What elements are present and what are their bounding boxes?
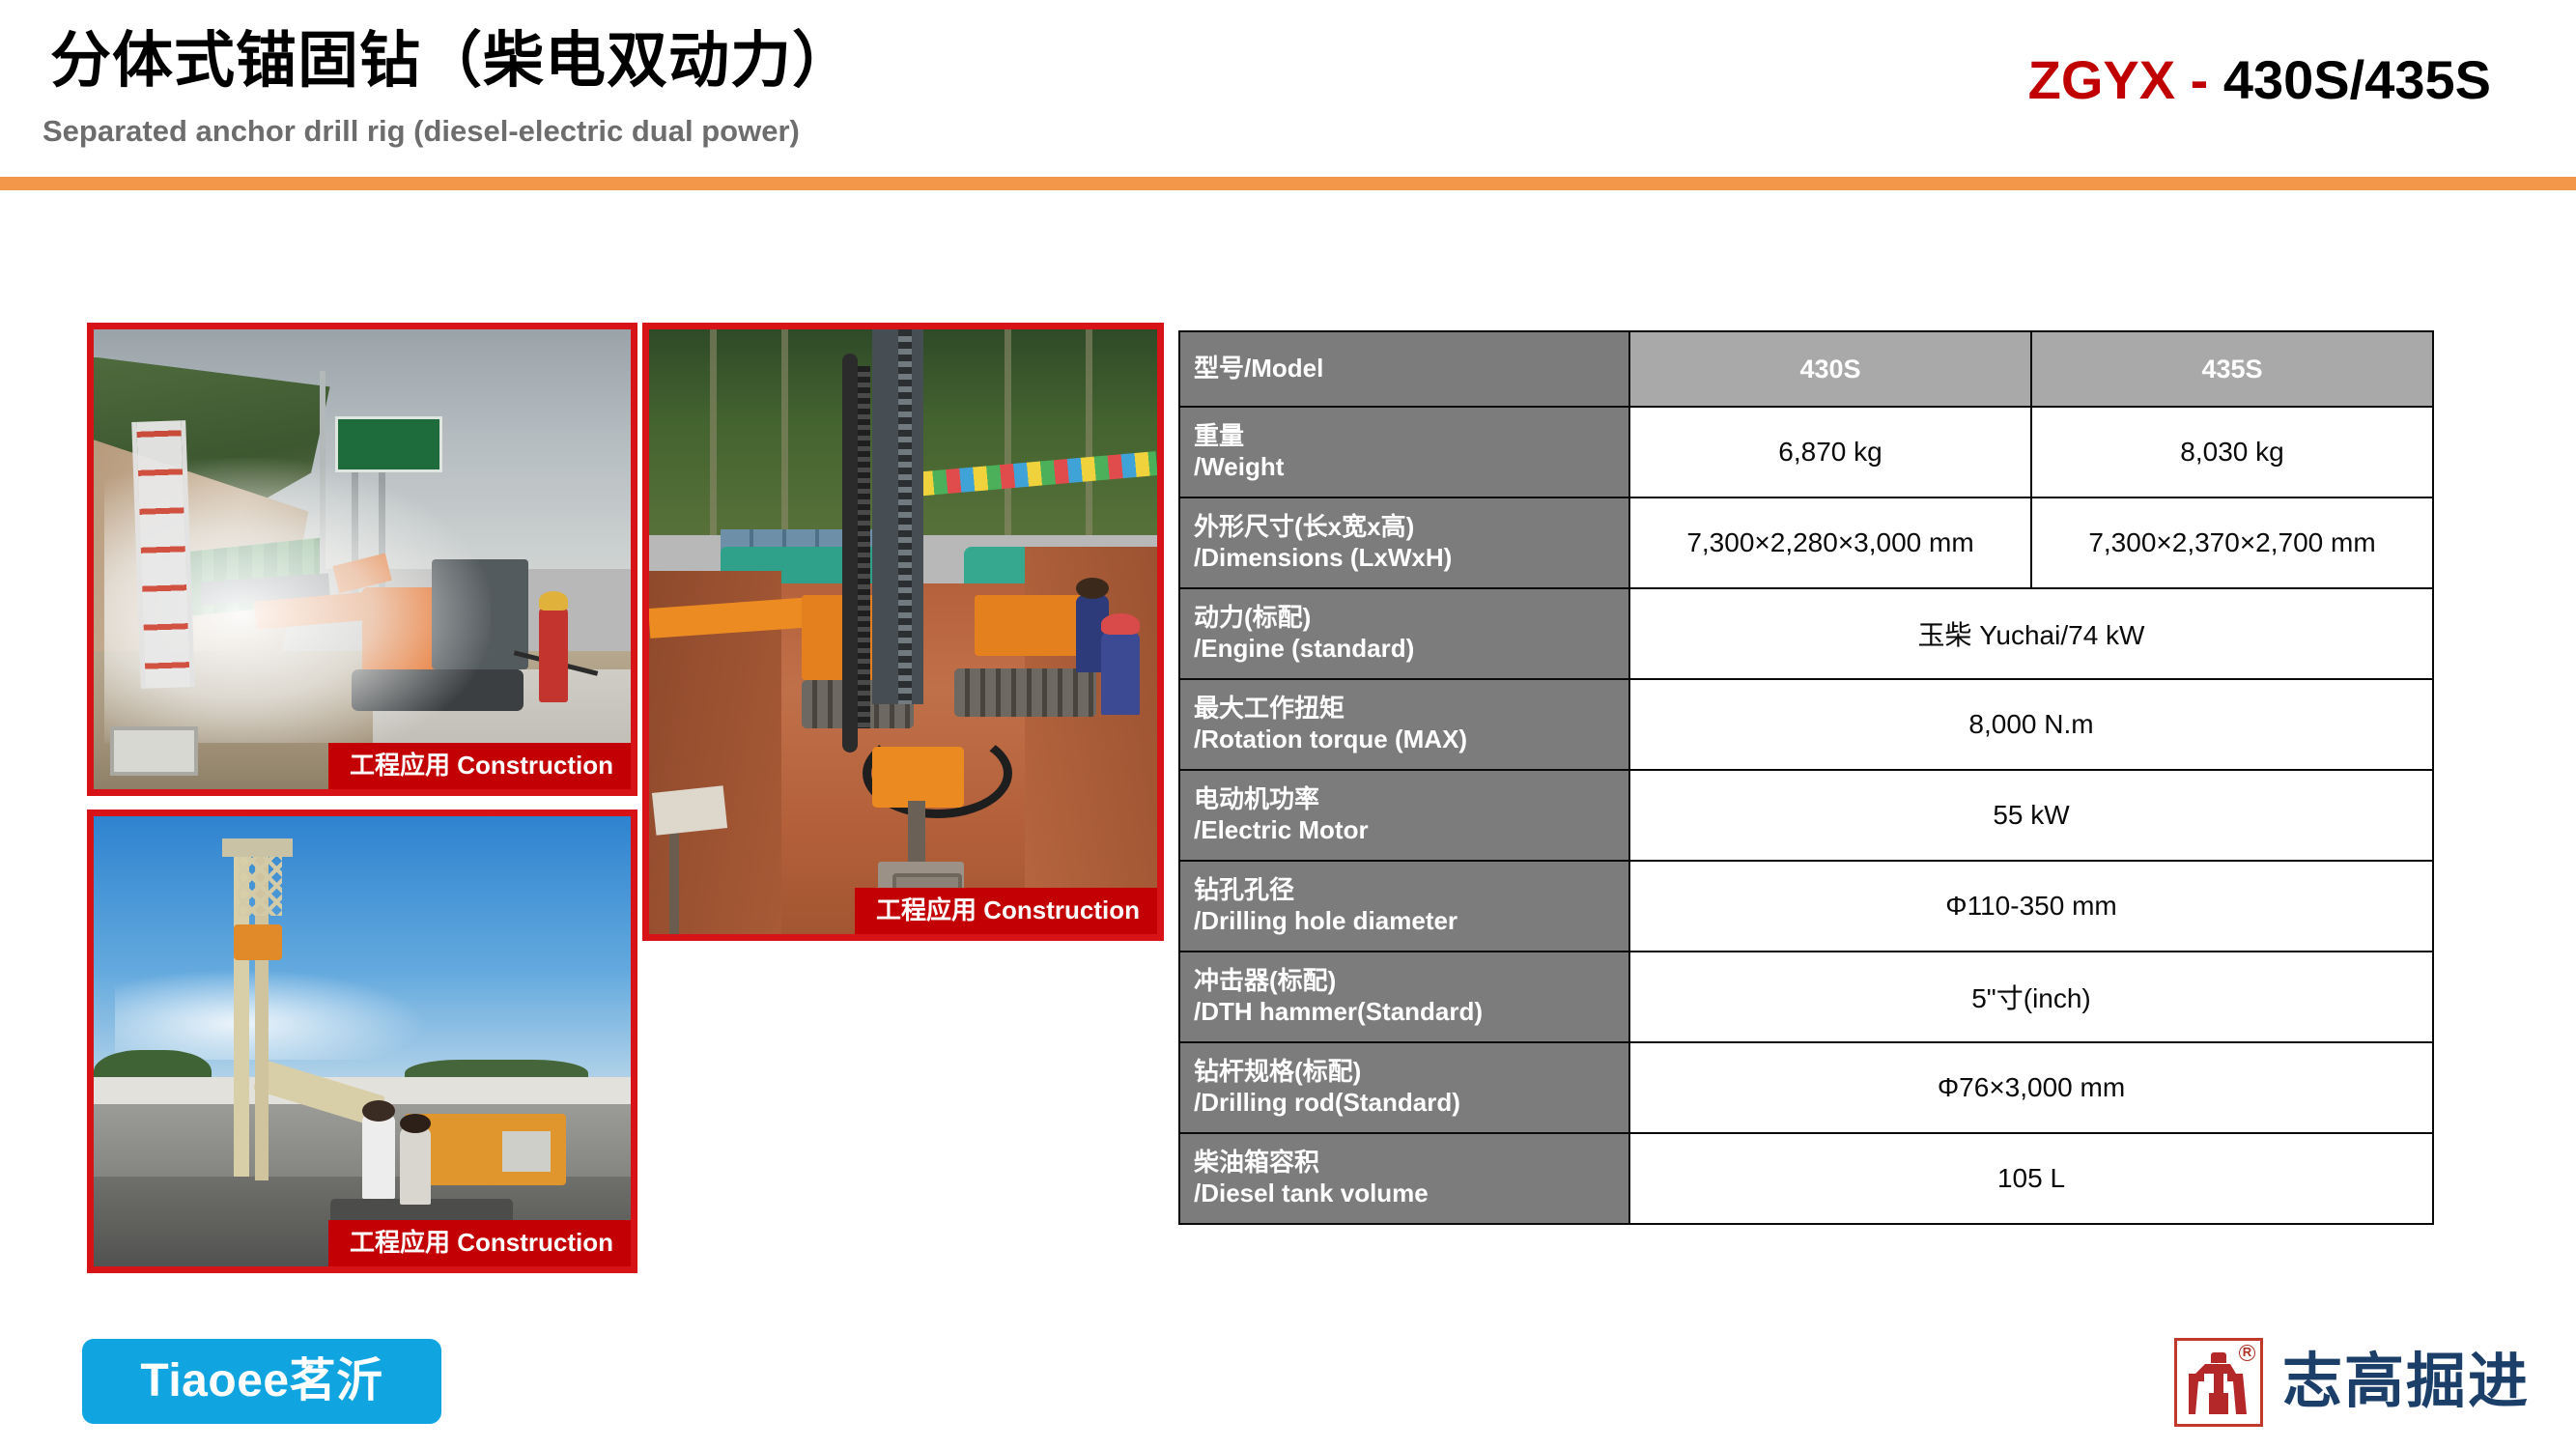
table-row-drilling-rod: 钻杆规格(标配) /Drilling rod(Standard) Φ76×3,0… xyxy=(1179,1042,2433,1133)
row-label-cn: 外形尺寸(长x宽x高) xyxy=(1194,512,1628,543)
table-row-weight: 重量 /Weight 6,870 kg 8,030 kg xyxy=(1179,407,2433,497)
photo-caption: 工程应用 Construction xyxy=(328,1220,631,1266)
table-row-dth-hammer: 冲击器(标配) /DTH hammer(Standard) 5"寸(inch) xyxy=(1179,952,2433,1042)
row-label-en: /Electric Motor xyxy=(1194,815,1628,846)
table-row-engine: 动力(标配) /Engine (standard) 玉柴 Yuchai/74 k… xyxy=(1179,588,2433,679)
row-label-en: /Rotation torque (MAX) xyxy=(1194,724,1628,755)
photo-caption: 工程应用 Construction xyxy=(855,888,1157,934)
photo-a-artwork xyxy=(94,329,631,789)
photo-highway-slope-drilling: 工程应用 Construction xyxy=(87,323,637,796)
photo-b-artwork xyxy=(94,816,631,1266)
row-label-cn: 钻孔孔径 xyxy=(1194,875,1628,906)
photo-open-pit-drilling: 工程应用 Construction xyxy=(87,810,637,1273)
specification-table: 型号/Model 430S 435S 重量 /Weight 6,870 kg 8… xyxy=(1178,330,2434,1225)
table-header-label: 型号/Model xyxy=(1179,331,1629,407)
row-label-cn: 钻杆规格(标配) xyxy=(1194,1057,1628,1088)
photo-column-left: 工程应用 Construction 工程应用 Construction xyxy=(87,323,637,1273)
tiaoee-watermark-badge: Tiaoee茗沂 xyxy=(82,1339,441,1424)
row-label-diesel-tank: 柴油箱容积 /Diesel tank volume xyxy=(1179,1133,1629,1224)
row-value-merged: 玉柴 Yuchai/74 kW xyxy=(1629,588,2433,679)
drill-rig-glyph-icon xyxy=(2189,1350,2249,1416)
table-header-col-435s: 435S xyxy=(2031,331,2433,407)
row-value-merged: Φ110-350 mm xyxy=(1629,861,2433,952)
row-label-electric-motor: 电动机功率 /Electric Motor xyxy=(1179,770,1629,861)
row-label-rotation-torque: 最大工作扭矩 /Rotation torque (MAX) xyxy=(1179,679,1629,770)
row-value-430s: 6,870 kg xyxy=(1629,407,2031,497)
table-row-hole-diameter: 钻孔孔径 /Drilling hole diameter Φ110-350 mm xyxy=(1179,861,2433,952)
row-value-merged: 55 kW xyxy=(1629,770,2433,861)
page-header: 分体式锚固钻（柴电双动力） Separated anchor drill rig… xyxy=(0,0,2576,177)
table-row-dimensions: 外形尺寸(长x宽x高) /Dimensions (LxWxH) 7,300×2,… xyxy=(1179,497,2433,588)
row-value-merged: Φ76×3,000 mm xyxy=(1629,1042,2433,1133)
row-label-en: /Diesel tank volume xyxy=(1194,1179,1628,1209)
row-value-merged: 105 L xyxy=(1629,1133,2433,1224)
row-value-435s: 8,030 kg xyxy=(2031,407,2433,497)
row-value-merged: 5"寸(inch) xyxy=(1629,952,2433,1042)
model-number: 430S/435S xyxy=(2223,49,2491,110)
row-label-cn: 重量 xyxy=(1194,421,1628,452)
table-row-rotation-torque: 最大工作扭矩 /Rotation torque (MAX) 8,000 N.m xyxy=(1179,679,2433,770)
row-label-cn: 冲击器(标配) xyxy=(1194,966,1628,997)
row-label-en: /Drilling rod(Standard) xyxy=(1194,1088,1628,1119)
page-subtitle-en: Separated anchor drill rig (diesel-elect… xyxy=(42,116,800,146)
model-designation: ZGYX - 430S/435S xyxy=(2028,53,2491,107)
page-title-cn: 分体式锚固钻（柴电双动力） xyxy=(50,31,854,92)
row-label-cn: 电动机功率 xyxy=(1194,784,1628,815)
row-value-merged: 8,000 N.m xyxy=(1629,679,2433,770)
row-label-cn: 最大工作扭矩 xyxy=(1194,694,1628,724)
row-label-hole-diameter: 钻孔孔径 /Drilling hole diameter xyxy=(1179,861,1629,952)
photo-anchor-drilling-red-soil: 工程应用 Construction xyxy=(642,323,1164,941)
table-header-col-430s: 430S xyxy=(1629,331,2031,407)
corporate-logo: R 志高掘进 xyxy=(2174,1338,2530,1427)
row-label-cn: 柴油箱容积 xyxy=(1194,1148,1628,1179)
zhigao-emblem-icon: R xyxy=(2174,1338,2263,1427)
table-row-diesel-tank: 柴油箱容积 /Diesel tank volume 105 L xyxy=(1179,1133,2433,1224)
row-label-engine: 动力(标配) /Engine (standard) xyxy=(1179,588,1629,679)
model-brand-prefix: ZGYX - xyxy=(2028,49,2223,110)
row-label-dimensions: 外形尺寸(长x宽x高) /Dimensions (LxWxH) xyxy=(1179,497,1629,588)
row-value-435s: 7,300×2,370×2,700 mm xyxy=(2031,497,2433,588)
row-label-dth-hammer: 冲击器(标配) /DTH hammer(Standard) xyxy=(1179,952,1629,1042)
photo-caption: 工程应用 Construction xyxy=(328,743,631,789)
row-label-drilling-rod: 钻杆规格(标配) /Drilling rod(Standard) xyxy=(1179,1042,1629,1133)
row-value-430s: 7,300×2,280×3,000 mm xyxy=(1629,497,2031,588)
photo-c-artwork xyxy=(649,329,1157,934)
row-label-en: /Weight xyxy=(1194,452,1628,483)
row-label-en: /Dimensions (LxWxH) xyxy=(1194,543,1628,574)
row-label-cn: 动力(标配) xyxy=(1194,603,1628,634)
row-label-weight: 重量 /Weight xyxy=(1179,407,1629,497)
row-label-en: /Drilling hole diameter xyxy=(1194,906,1628,937)
table-row-electric-motor: 电动机功率 /Electric Motor 55 kW xyxy=(1179,770,2433,861)
row-label-en: /Engine (standard) xyxy=(1194,634,1628,665)
header-divider-rule xyxy=(0,177,2576,190)
corporate-name: 志高掘进 xyxy=(2282,1352,2530,1412)
row-label-en: /DTH hammer(Standard) xyxy=(1194,997,1628,1028)
table-header-row: 型号/Model 430S 435S xyxy=(1179,331,2433,407)
